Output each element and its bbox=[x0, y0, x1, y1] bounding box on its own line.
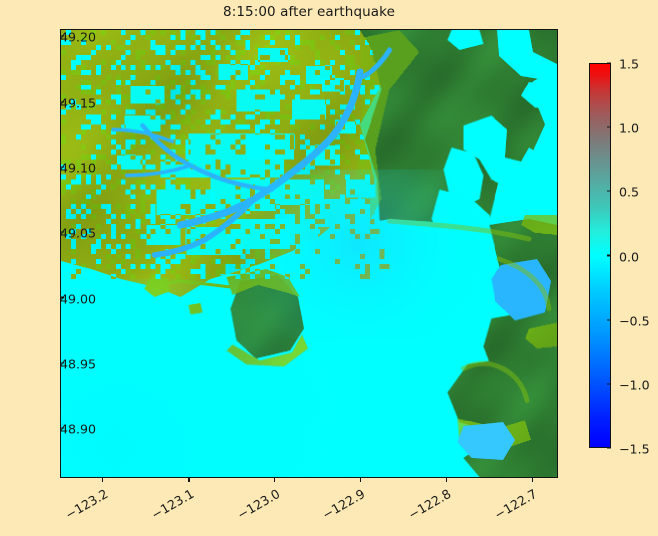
colorbar-tick-label: 0.0 bbox=[619, 249, 639, 264]
y-axis-tick-mark bbox=[60, 362, 64, 363]
y-axis-tick-label: 49.00 bbox=[60, 291, 96, 306]
y-axis-tick-mark bbox=[60, 166, 64, 167]
colorbar-tick-mark bbox=[607, 383, 611, 384]
map-axes[interactable] bbox=[60, 29, 558, 478]
colorbar-tick-label: 1.5 bbox=[619, 57, 639, 72]
y-axis-tick-label: 48.90 bbox=[60, 422, 96, 437]
y-axis-tick-mark bbox=[60, 428, 64, 429]
colorbar-tick: −1.0 bbox=[611, 374, 650, 393]
colorbar-tick-mark bbox=[607, 447, 611, 448]
colorbar-tick-mark bbox=[607, 191, 611, 192]
colorbar-tick-label: 0.5 bbox=[619, 185, 639, 200]
colorbar-tick-mark bbox=[607, 62, 611, 63]
y-axis-tick-label: 48.95 bbox=[60, 356, 96, 371]
colorbar-tick: 0.5 bbox=[611, 182, 639, 201]
colorbar-tick-mark bbox=[607, 319, 611, 320]
figure-canvas: 8:15:00 after earthquake 49.2049.1549.10… bbox=[0, 0, 658, 536]
x-axis-tick-label: −123.0 bbox=[234, 486, 282, 522]
y-axis-tick-label: 49.15 bbox=[60, 95, 96, 110]
colorbar-tick-label: −1.5 bbox=[619, 442, 650, 457]
colorbar[interactable]: 1.51.00.50.0−0.5−1.0−1.5 bbox=[589, 63, 611, 448]
x-axis-tick-mark bbox=[532, 478, 533, 482]
x-axis-tick-mark bbox=[102, 478, 103, 482]
y-axis-tick-mark bbox=[60, 297, 64, 298]
x-axis-tick-mark bbox=[360, 478, 361, 482]
inundation-heatmap bbox=[61, 30, 557, 477]
x-axis-tick-label: −122.7 bbox=[492, 486, 540, 522]
y-axis-tick-label: 49.20 bbox=[60, 30, 96, 45]
colorbar-tick: −1.5 bbox=[611, 439, 650, 458]
y-axis-tick-mark bbox=[60, 231, 64, 232]
colorbar-tick-label: −0.5 bbox=[619, 313, 650, 328]
colorbar-tick: −0.5 bbox=[611, 310, 650, 329]
y-axis-tick-label: 49.10 bbox=[60, 160, 96, 175]
page-title: 8:15:00 after earthquake bbox=[60, 4, 558, 20]
y-axis-tick-mark bbox=[60, 101, 64, 102]
x-axis-tick-label: −123.2 bbox=[62, 486, 110, 522]
colorbar-tick-mark bbox=[607, 127, 611, 128]
x-axis-tick-label: −122.9 bbox=[320, 486, 368, 522]
y-axis-tick-label: 49.05 bbox=[60, 225, 96, 240]
y-axis-tick-mark bbox=[60, 36, 64, 37]
colorbar-tick: 1.0 bbox=[611, 118, 639, 137]
x-axis-tick-mark bbox=[446, 478, 447, 482]
colorbar-tick-label: −1.0 bbox=[619, 377, 650, 392]
colorbar-tick-label: 1.0 bbox=[619, 121, 639, 136]
x-axis-tick-mark bbox=[274, 478, 275, 482]
colorbar-tick: 0.0 bbox=[611, 246, 639, 265]
colorbar-tick: 1.5 bbox=[611, 54, 639, 73]
x-axis-tick-label: −123.1 bbox=[149, 486, 197, 522]
x-axis-tick-label: −122.8 bbox=[406, 486, 454, 522]
x-axis-tick-mark bbox=[188, 478, 189, 482]
colorbar-tick-mark bbox=[607, 255, 611, 256]
